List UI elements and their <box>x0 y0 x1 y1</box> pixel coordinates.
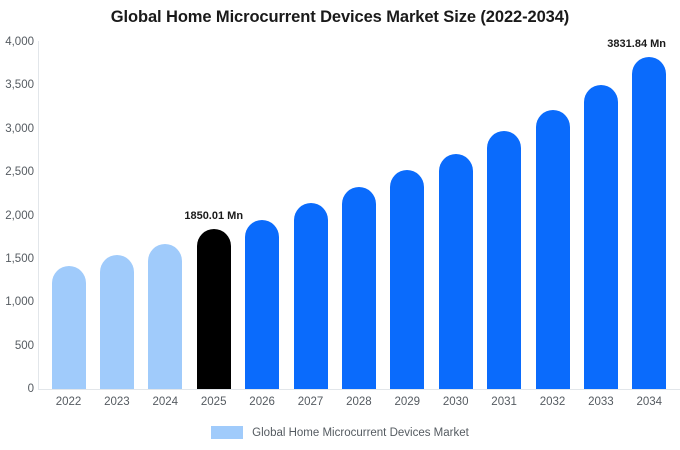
chart-title: Global Home Microcurrent Devices Market … <box>0 8 680 27</box>
y-axis-tick-label: 3,000 <box>0 123 34 135</box>
bar-2029[interactable] <box>390 170 424 389</box>
x-axis: 2022202320242025202620272028202920302031… <box>38 396 680 414</box>
y-axis-tick-label: 1,000 <box>0 296 34 308</box>
x-axis-tick-label-2034: 2034 <box>619 396 679 408</box>
bar-2027[interactable] <box>294 203 328 389</box>
bar-2034[interactable] <box>632 57 666 389</box>
y-axis-tick-label: 1,500 <box>0 253 34 265</box>
y-axis-tick-label: 3,500 <box>0 79 34 91</box>
bar-value-label-2034: 3831.84 Mn <box>607 38 666 50</box>
legend-swatch-icon <box>211 426 243 439</box>
bar-2032[interactable] <box>536 110 570 389</box>
y-axis-tick-label: 2,500 <box>0 166 34 178</box>
y-axis: 05001,0001,5002,0002,5003,0003,5004,000 <box>0 42 34 389</box>
y-axis-tick-label: 2,000 <box>0 210 34 222</box>
bar-value-label-2025: 1850.01 Mn <box>184 210 243 222</box>
bars-layer: 1850.01 Mn3831.84 Mn <box>38 42 680 389</box>
chart-legend: Global Home Microcurrent Devices Market <box>0 426 680 439</box>
y-axis-tick-label: 500 <box>0 340 34 352</box>
x-axis-line <box>38 389 680 390</box>
bar-2024[interactable] <box>148 244 182 389</box>
y-axis-tick-label: 4,000 <box>0 36 34 48</box>
bar-2022[interactable] <box>52 266 86 389</box>
bar-chart: Global Home Microcurrent Devices Market … <box>0 0 680 450</box>
y-axis-tick-label: 0 <box>0 383 34 395</box>
bar-2025[interactable] <box>197 229 231 389</box>
bar-2033[interactable] <box>584 85 618 389</box>
bar-2023[interactable] <box>100 255 134 389</box>
bar-2028[interactable] <box>342 187 376 389</box>
legend-item-label: Global Home Microcurrent Devices Market <box>252 427 469 439</box>
bar-2031[interactable] <box>487 131 521 389</box>
bar-2026[interactable] <box>245 220 279 389</box>
bar-2030[interactable] <box>439 154 473 389</box>
